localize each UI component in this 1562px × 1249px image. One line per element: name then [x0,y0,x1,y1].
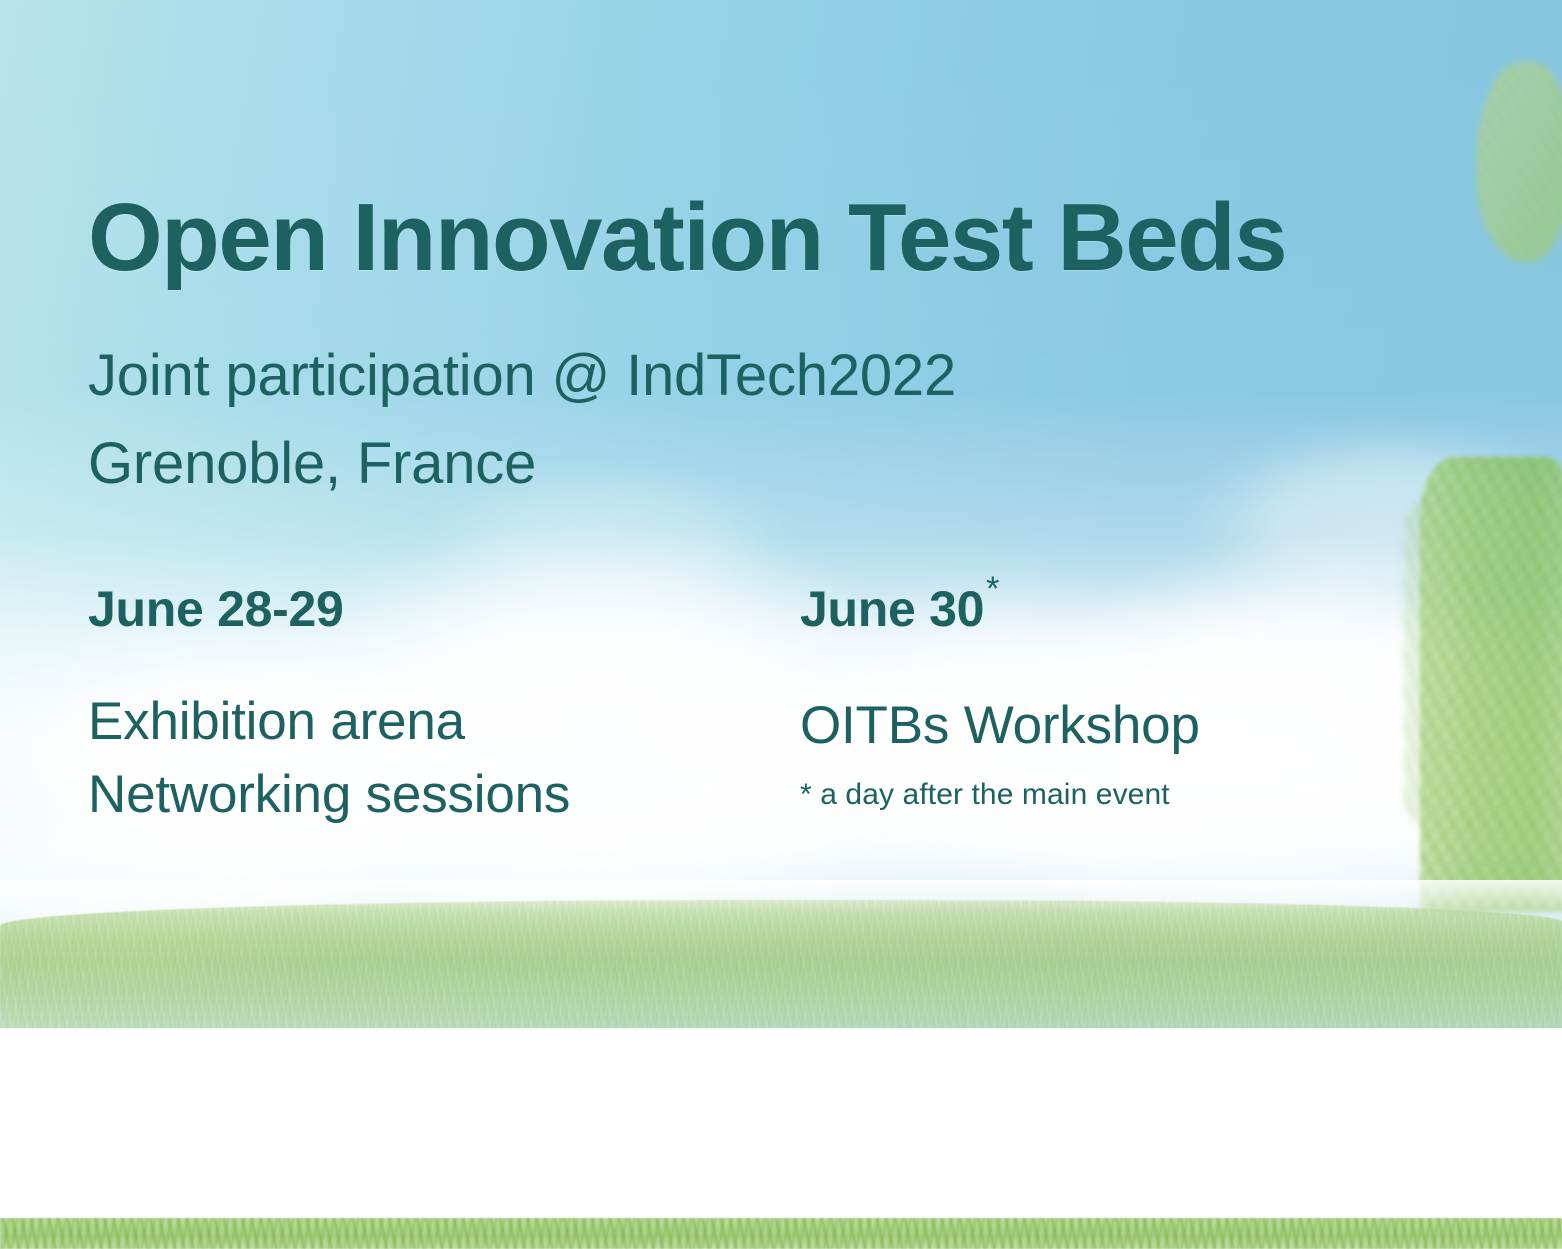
poster-subtitle: Joint participation @ IndTech2022 Grenob… [88,332,956,508]
activities-left: Exhibition arena Networking sessions [88,685,570,831]
activity-line: Networking sessions [88,758,570,831]
asterisk-marker: * [986,570,999,608]
poster-content: Open Innovation Test Beds Joint particip… [0,0,1562,1030]
date-heading-right: June 30* [800,582,999,637]
poster-banner: Open Innovation Test Beds Joint particip… [0,0,1562,1249]
activities-right: OITBs Workshop * a day after the main ev… [800,689,1200,812]
subtitle-line-1: Joint participation @ IndTech2022 [88,332,956,420]
schedule-column-left: June 28-29 Exhibition arena Networking s… [88,582,570,831]
footnote-text: * a day after the main event [800,778,1200,812]
activity-line: OITBs Workshop [800,689,1200,762]
bottom-grass-strip [0,1218,1562,1249]
activity-line: Exhibition arena [88,685,570,758]
date-heading-left: June 28-29 [88,582,343,637]
partner-logo-bar: Ind Tech 2022 [0,1028,1562,1218]
page-title: Open Innovation Test Beds [88,188,1286,289]
date-label-left: June 28-29 [88,581,343,637]
subtitle-line-2: Grenoble, France [88,420,956,508]
schedule-column-right: June 30* OITBs Workshop * a day after th… [800,582,1200,812]
date-label-right: June 30 [800,581,984,637]
